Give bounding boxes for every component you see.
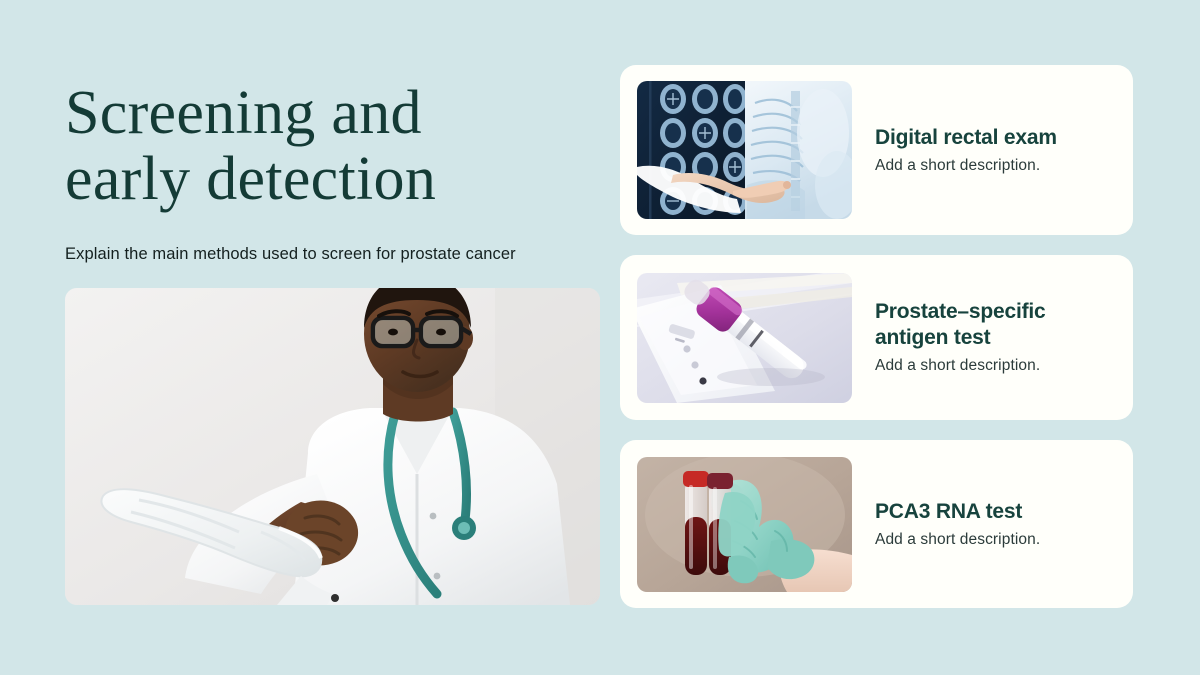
blood-tubes-illustration [637,457,852,592]
hero-photo [65,288,600,605]
card-thumbnail-xray [637,81,852,219]
page-title: Screening and early detection [65,80,585,212]
card-text-block: PCA3 RNA test Add a short description. [852,499,1133,550]
xray-illustration [637,81,852,219]
method-card-pca3-rna-test[interactable]: PCA3 RNA test Add a short description. [620,440,1133,608]
card-heading: PCA3 RNA test [875,499,1115,525]
card-heading-line-1: Prostate–specific [875,300,1046,323]
left-column: Screening and early detection Explain th… [65,0,600,675]
card-heading-line-2: antigen test [875,326,990,349]
page-title-line-1: Screening and [65,80,585,146]
card-thumbnail-blood-tubes [637,457,852,592]
card-heading: Prostate–specific antigen test [875,299,1115,351]
card-heading: Digital rectal exam [875,125,1115,151]
method-card-psa-test[interactable]: Prostate–specific antigen test Add a sho… [620,255,1133,420]
page-subtitle: Explain the main methods used to screen … [65,243,595,265]
page-title-line-2: early detection [65,146,585,212]
card-text-block: Digital rectal exam Add a short descript… [852,125,1133,176]
card-text-block: Prostate–specific antigen test Add a sho… [852,299,1133,376]
method-card-list: Digital rectal exam Add a short descript… [620,65,1133,608]
card-thumbnail-psa-kit [637,273,852,403]
card-description: Add a short description. [875,355,1115,376]
psa-kit-illustration [637,273,852,403]
card-description: Add a short description. [875,529,1115,550]
hero-photo-graphic [65,288,600,605]
card-description: Add a short description. [875,155,1115,176]
method-card-digital-rectal-exam[interactable]: Digital rectal exam Add a short descript… [620,65,1133,235]
